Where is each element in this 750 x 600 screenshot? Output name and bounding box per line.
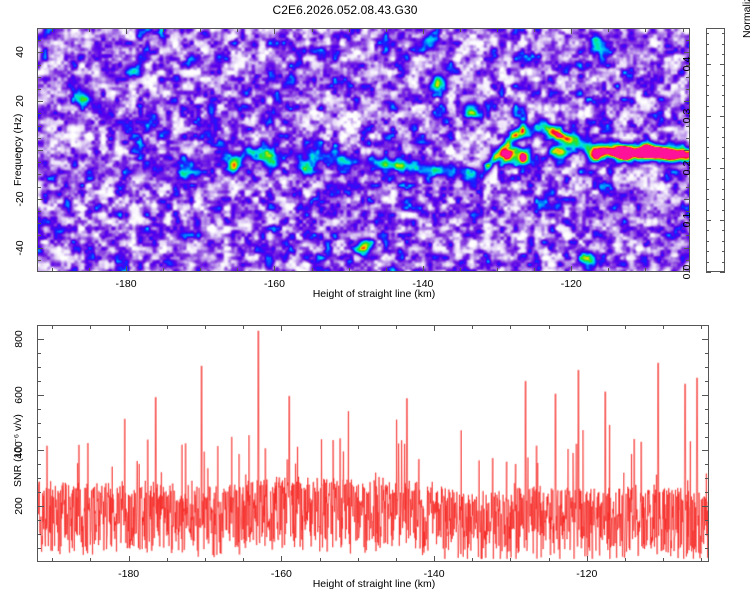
axis-tick [358, 558, 359, 562]
axis-tick [686, 235, 690, 236]
axis-tick [684, 150, 690, 151]
spectrogram-y-tick-label: -40 [14, 235, 26, 261]
axis-tick [706, 95, 709, 96]
axis-tick [90, 325, 91, 329]
colorbar-tick-label: 0.3 [681, 103, 693, 129]
axis-tick [706, 168, 711, 169]
axis-tick [705, 437, 709, 438]
snr-x-axis-title: Height of straight line (km) [313, 578, 436, 590]
axis-tick [510, 558, 511, 562]
axis-tick [281, 325, 282, 331]
axis-tick [37, 395, 44, 396]
axis-tick [37, 199, 43, 200]
axis-tick [705, 492, 709, 493]
axis-tick [534, 268, 535, 272]
axis-tick [434, 556, 435, 562]
page-title: C2E6.2026.052.08.43.G30 [0, 3, 690, 17]
spectrogram-y-axis-title: Frequency (Hz) [12, 114, 24, 186]
axis-tick [706, 54, 709, 55]
axis-tick [274, 266, 275, 272]
axis-tick [423, 266, 424, 272]
axis-tick [167, 325, 168, 329]
axis-tick [497, 28, 498, 32]
colorbar-tick-label: 0.4 [681, 51, 693, 77]
spectrogram-plot-area [37, 28, 690, 272]
axis-tick [349, 28, 350, 32]
axis-tick [684, 101, 690, 102]
axis-tick [587, 556, 588, 562]
axis-tick [243, 325, 244, 329]
colorbar-gradient [707, 29, 724, 271]
axis-tick [37, 77, 41, 78]
axis-tick [510, 325, 511, 329]
axis-tick [645, 28, 646, 32]
axis-tick [205, 325, 206, 329]
spectrogram-canvas [38, 29, 689, 271]
axis-tick [167, 558, 168, 562]
axis-tick [37, 548, 41, 549]
axis-tick [37, 187, 41, 188]
axis-tick [37, 174, 41, 175]
axis-tick [37, 101, 43, 102]
axis-tick [722, 179, 725, 180]
axis-tick [423, 28, 424, 34]
axis-tick [705, 520, 709, 521]
axis-tick [706, 85, 709, 86]
axis-tick [396, 558, 397, 562]
axis-tick [126, 266, 127, 272]
axis-tick [722, 137, 725, 138]
axis-tick [705, 353, 709, 354]
axis-tick [663, 558, 664, 562]
axis-tick [705, 423, 709, 424]
spectrogram-y-tick-label: 20 [14, 88, 26, 114]
axis-tick [702, 450, 709, 451]
spectrogram-x-tick-label: -160 [264, 278, 285, 290]
axis-tick [722, 127, 725, 128]
axis-tick [89, 268, 90, 272]
spectrogram-y-tick-label: 40 [14, 39, 26, 65]
axis-tick [663, 325, 664, 329]
axis-tick [722, 106, 725, 107]
axis-tick [706, 158, 709, 159]
axis-tick [37, 506, 44, 507]
axis-tick [722, 54, 725, 55]
axis-tick [37, 520, 41, 521]
axis-tick [237, 28, 238, 32]
axis-tick [37, 126, 41, 127]
axis-tick [37, 534, 41, 535]
axis-tick [37, 150, 43, 151]
axis-tick [52, 558, 53, 562]
axis-tick [706, 64, 711, 65]
axis-tick [705, 478, 709, 479]
axis-tick [608, 28, 609, 32]
axis-tick [705, 367, 709, 368]
axis-tick [720, 220, 725, 221]
axis-tick [686, 187, 690, 188]
axis-tick [37, 367, 41, 368]
axis-tick [37, 89, 41, 90]
axis-tick [706, 272, 711, 273]
axis-tick [705, 381, 709, 382]
axis-tick [37, 381, 41, 382]
axis-tick [722, 251, 725, 252]
axis-tick [705, 409, 709, 410]
spectrogram-x-tick-label: -180 [116, 278, 137, 290]
axis-tick [37, 423, 41, 424]
axis-tick [686, 40, 690, 41]
axis-tick [37, 138, 41, 139]
axis-tick [312, 268, 313, 272]
axis-tick [89, 28, 90, 32]
axis-tick [722, 33, 725, 34]
snr-canvas [38, 326, 708, 561]
axis-tick [549, 325, 550, 329]
axis-tick [37, 65, 41, 66]
axis-tick [386, 28, 387, 32]
axis-tick [722, 158, 725, 159]
axis-tick [472, 558, 473, 562]
spectrogram-y-tick-label: -20 [14, 186, 26, 212]
axis-tick [705, 325, 709, 326]
axis-tick [706, 220, 711, 221]
axis-tick [200, 28, 201, 32]
axis-tick [37, 450, 44, 451]
axis-tick [705, 534, 709, 535]
axis-tick [163, 268, 164, 272]
axis-tick [702, 506, 709, 507]
axis-tick [37, 492, 41, 493]
axis-tick [274, 28, 275, 34]
snr-y-tick-label: 200 [13, 492, 25, 520]
snr-y-tick-label: 800 [13, 325, 25, 353]
axis-tick [722, 147, 725, 148]
axis-tick [37, 211, 41, 212]
axis-tick [52, 325, 53, 329]
axis-tick [37, 260, 41, 261]
axis-tick [37, 248, 43, 249]
axis-tick [386, 268, 387, 272]
axis-tick [625, 325, 626, 329]
axis-tick [37, 223, 41, 224]
axis-tick [701, 325, 702, 329]
snr-x-tick-label: -160 [271, 568, 292, 580]
colorbar-tick-label: 0.2 [681, 155, 693, 181]
axis-tick [706, 230, 709, 231]
axis-tick [706, 106, 709, 107]
axis-tick [37, 339, 44, 340]
axis-tick [686, 89, 690, 90]
axis-tick [37, 40, 41, 41]
axis-tick [460, 268, 461, 272]
axis-tick [720, 272, 725, 273]
axis-tick [549, 558, 550, 562]
snr-x-tick-label: -180 [118, 568, 139, 580]
axis-tick [706, 75, 709, 76]
axis-tick [702, 339, 709, 340]
colorbar-tick-label: 0.0 [681, 259, 693, 285]
axis-tick [587, 325, 588, 331]
colorbar-tick-label: 0.1 [681, 207, 693, 233]
axis-tick [37, 353, 41, 354]
axis-tick [349, 268, 350, 272]
axis-tick [722, 75, 725, 76]
axis-tick [701, 558, 702, 562]
axis-tick [320, 558, 321, 562]
axis-tick [706, 199, 709, 200]
snr-y-tick-label: 600 [13, 381, 25, 409]
axis-tick [706, 44, 709, 45]
axis-tick [205, 558, 206, 562]
axis-tick [497, 268, 498, 272]
axis-tick [722, 230, 725, 231]
axis-tick [686, 77, 690, 78]
axis-tick [129, 556, 130, 562]
axis-tick [396, 325, 397, 329]
axis-tick [706, 241, 709, 242]
axis-tick [281, 556, 282, 562]
axis-tick [571, 28, 572, 34]
axis-tick [706, 137, 709, 138]
axis-tick [722, 189, 725, 190]
axis-tick [243, 558, 244, 562]
axis-tick [37, 52, 43, 53]
snr-x-tick-label: -120 [576, 568, 597, 580]
axis-tick [684, 199, 690, 200]
axis-tick [237, 268, 238, 272]
axis-tick [37, 478, 41, 479]
axis-tick [722, 199, 725, 200]
axis-tick [52, 268, 53, 272]
axis-tick [434, 325, 435, 331]
axis-tick [37, 113, 41, 114]
axis-tick [706, 127, 709, 128]
figure-root: C2E6.2026.052.08.43.G30 -180-160-140-120… [0, 0, 750, 600]
axis-tick [571, 266, 572, 272]
axis-tick [460, 28, 461, 32]
axis-tick [534, 28, 535, 32]
axis-tick [720, 168, 725, 169]
axis-tick [706, 210, 709, 211]
axis-tick [706, 251, 709, 252]
axis-tick [705, 464, 709, 465]
axis-tick [722, 85, 725, 86]
axis-tick [358, 325, 359, 329]
axis-tick [706, 147, 709, 148]
axis-tick [200, 268, 201, 272]
axis-tick [722, 262, 725, 263]
axis-tick [706, 116, 711, 117]
axis-tick [705, 548, 709, 549]
axis-tick [472, 325, 473, 329]
axis-tick [720, 116, 725, 117]
axis-tick [37, 162, 41, 163]
axis-tick [37, 409, 41, 410]
axis-tick [684, 248, 690, 249]
axis-tick [706, 189, 709, 190]
axis-tick [683, 28, 684, 32]
axis-tick [722, 241, 725, 242]
axis-tick [608, 268, 609, 272]
axis-tick [312, 28, 313, 32]
snr-y-axis-title: SNR (10 ⁻⁶ v/v) [12, 414, 24, 487]
axis-tick [702, 395, 709, 396]
axis-tick [163, 28, 164, 32]
axis-tick [645, 268, 646, 272]
axis-tick [320, 325, 321, 329]
axis-tick [706, 262, 709, 263]
spectrogram-x-tick-label: -120 [561, 278, 582, 290]
axis-tick [686, 138, 690, 139]
axis-tick [722, 95, 725, 96]
snr-plot-area [37, 325, 709, 562]
axis-tick [706, 179, 709, 180]
axis-tick [90, 558, 91, 562]
axis-tick [37, 325, 41, 326]
axis-tick [37, 437, 41, 438]
axis-tick [722, 44, 725, 45]
colorbar-title: Normalized spectral amplitude [741, 0, 750, 38]
spectrogram-x-axis-title: Height of straight line (km) [313, 288, 436, 300]
axis-tick [625, 558, 626, 562]
axis-tick [37, 235, 41, 236]
axis-tick [129, 325, 130, 331]
axis-tick [706, 33, 709, 34]
axis-tick [126, 28, 127, 34]
axis-tick [720, 64, 725, 65]
axis-tick [52, 28, 53, 32]
axis-tick [37, 464, 41, 465]
axis-tick [722, 210, 725, 211]
